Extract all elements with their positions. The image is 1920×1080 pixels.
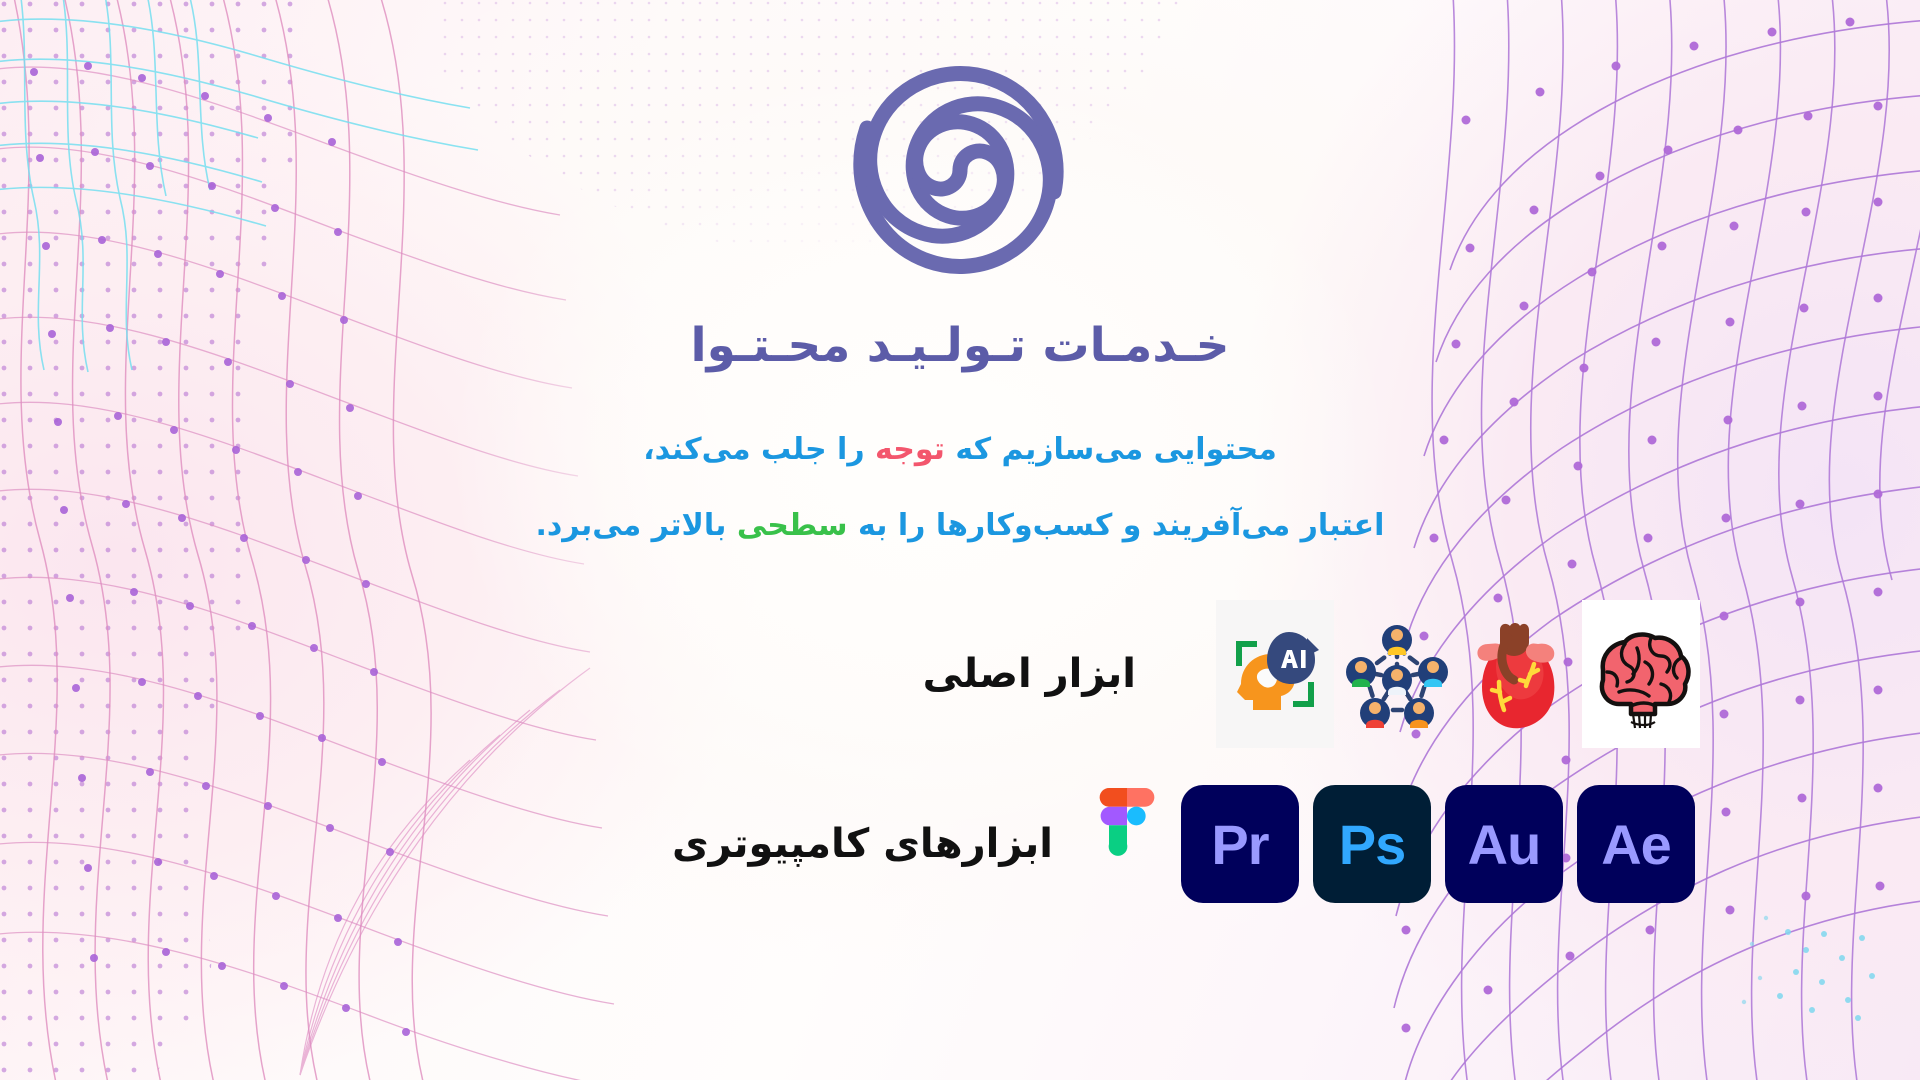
double-spiral-logo [840,52,1080,282]
brain-icon [1582,600,1700,748]
subtitle-line-1-part2: را جلب می‌کند، [643,432,875,467]
adobe-audition-icon[interactable]: Au [1445,785,1563,903]
team-network-icon [1338,600,1456,748]
computer-tools-label: ابزارهای کامپیوتری [672,821,1053,867]
row-main-tools: ابزار اصلی [630,600,1700,748]
subtitle-line-1-part1: محتوایی می‌سازیم که [945,432,1277,467]
adobe-audition-label: Au [1468,812,1541,877]
adobe-after-effects-label: Ae [1601,812,1671,877]
subtitle-line-2-part1: اعتبار می‌آفریند و کسب‌وکارها را به [848,508,1385,543]
brand-logo [840,52,1080,282]
main-tools-icon-group [1216,600,1700,748]
heart-icon [1460,600,1578,748]
subtitle-line-2-part2: بالاتر می‌برد. [536,508,737,543]
row-computer-tools: Pr Ps Au Ae ابزارهای کامپیوتری [495,785,1695,903]
adobe-photoshop-label: Ps [1339,812,1406,877]
subtitle-line-1-highlight: توجه [875,432,945,467]
page-title: خـدمـات تـولـیـد محـتـوا [0,318,1920,373]
subtitle-line-2-highlight: سطحی [737,508,848,543]
adobe-after-effects-icon[interactable]: Ae [1577,785,1695,903]
computer-tools-icon-group: Pr Ps Au Ae [1087,785,1695,903]
slide-canvas: خـدمـات تـولـیـد محـتـوا محتوایی می‌سازی… [0,0,1920,1080]
main-tools-label: ابزار اصلی [923,651,1136,697]
ai-head-icon [1216,600,1334,748]
subtitle-line-2: اعتبار می‌آفریند و کسب‌وکارها را به سطحی… [0,508,1920,543]
adobe-premiere-pro-icon[interactable]: Pr [1181,785,1299,903]
adobe-premiere-pro-label: Pr [1211,812,1268,877]
subtitle-line-1: محتوایی می‌سازیم که توجه را جلب می‌کند، [0,432,1920,467]
adobe-photoshop-icon[interactable]: Ps [1313,785,1431,903]
figma-icon[interactable] [1087,785,1167,903]
